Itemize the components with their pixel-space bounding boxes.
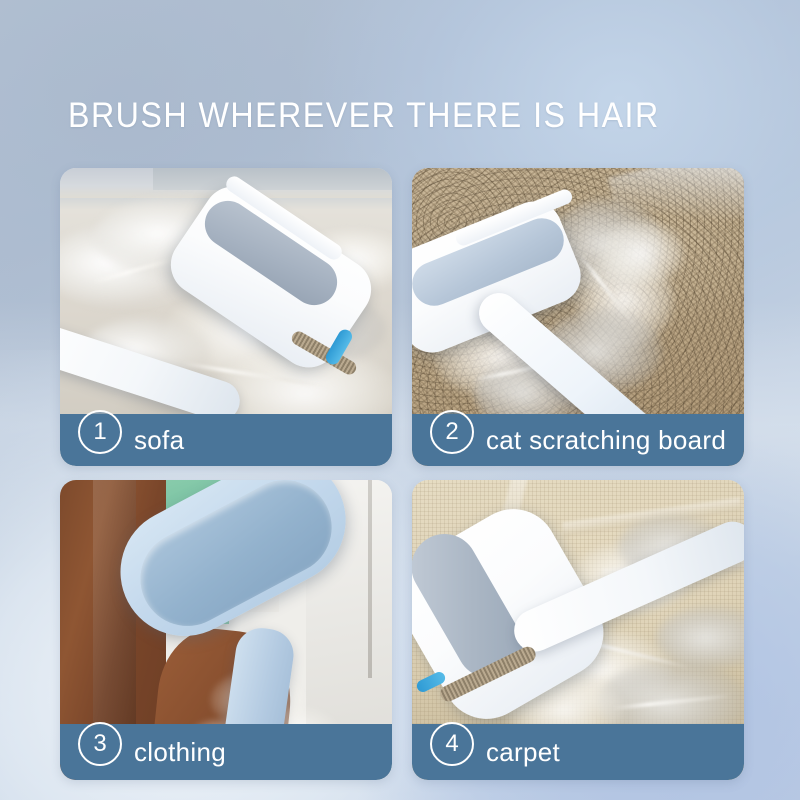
panel-label: carpet — [486, 737, 560, 768]
panel-card-sofa[interactable]: sofa 1 — [60, 168, 392, 466]
panel-card-clothing[interactable]: clothing 3 — [60, 480, 392, 780]
clothing-rack-bar — [368, 480, 372, 678]
sofa-wall-shadow — [153, 168, 392, 190]
panel-label: sofa — [134, 425, 184, 456]
infographic-canvas: BRUSH WHEREVER THERE IS HAIR — [0, 0, 800, 800]
panel-number-badge: 3 — [78, 722, 122, 766]
panel-number-badge: 4 — [430, 722, 474, 766]
panel-label: cat scratching board — [486, 425, 726, 456]
panel-label: clothing — [134, 737, 226, 768]
panel-card-cat-scratching-board[interactable]: cat scratching board 2 — [412, 168, 744, 466]
panel-number-badge: 1 — [78, 410, 122, 454]
page-title: BRUSH WHEREVER THERE IS HAIR — [68, 94, 660, 138]
panel-card-carpet[interactable]: carpet 4 — [412, 480, 744, 780]
panel-number-badge: 2 — [430, 410, 474, 454]
panel-grid: sofa 1 — [60, 168, 744, 780]
fur-clump — [598, 220, 684, 286]
